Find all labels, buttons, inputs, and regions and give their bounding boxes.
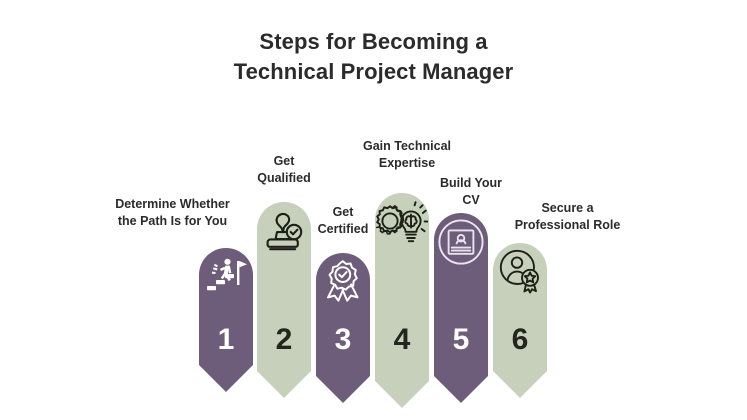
cv-document-circle-icon <box>437 218 485 266</box>
step-label-6: Secure a Professional Role <box>490 200 645 233</box>
person-climbing-stairs-to-flag-icon <box>203 255 249 301</box>
step-label-2: Get Qualified <box>239 153 329 186</box>
step-number-5: 5 <box>434 325 488 355</box>
step-number-6: 6 <box>493 325 547 355</box>
infographic-canvas: Steps for Becoming a Technical Project M… <box>0 0 747 420</box>
step-number-4: 4 <box>375 325 429 355</box>
step-number-3: 3 <box>316 325 370 355</box>
step-label-3: Get Certified <box>298 204 388 237</box>
person-award-badge-icon <box>498 248 544 296</box>
step-label-1: Determine Whether the Path Is for You <box>85 196 260 229</box>
award-rosette-check-icon <box>320 257 366 305</box>
step-number-2: 2 <box>257 325 311 355</box>
step-number-1: 1 <box>199 325 253 355</box>
step-label-4: Gain Technical Expertise <box>342 138 472 171</box>
